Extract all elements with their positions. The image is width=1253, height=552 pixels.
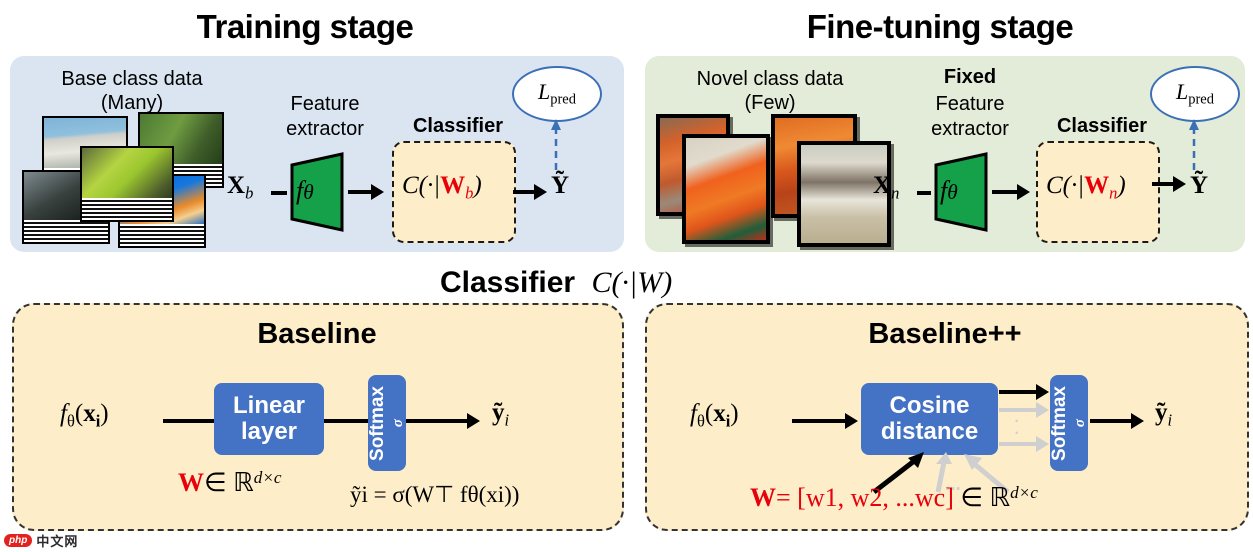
finetuning-input-line [917, 191, 931, 195]
finetuning-output-symbol: Ỹ [1190, 172, 1208, 200]
base-class-data-label-line1: Base class data [22, 68, 242, 91]
training-extractor-arrow [348, 190, 372, 194]
baseline-output-expression: ỹi [492, 399, 509, 430]
finetuning-input-symbol: Xn [873, 172, 899, 203]
baselinepp-input-arrow [792, 419, 846, 423]
finetuning-classifier-label: Classifier [1037, 115, 1167, 138]
finetuning-output-arrowhead [1173, 176, 1186, 192]
training-input-symbol: Xb [227, 172, 253, 203]
finetuning-stage-title: Fine-tuning stage [645, 8, 1235, 46]
stack-sheets [80, 198, 174, 222]
baselinepp-title: Baseline++ [740, 318, 1150, 351]
baselinepp-arrow-1 [999, 390, 1037, 394]
finetuning-extractor-label-line1: Feature [895, 93, 1045, 116]
finetuning-extractor-arrow [992, 190, 1018, 194]
training-stage-title: Training stage [10, 8, 600, 46]
baseline-output-arrow [406, 419, 468, 423]
training-output-symbol: Ỹ [551, 172, 569, 200]
baseline-softmax-label: Softmax [367, 386, 389, 461]
novel-class-data-label-line1: Novel class data [655, 68, 885, 91]
baselinepp-output-arrow [1090, 419, 1132, 423]
classifier-section-heading: Classifier C(·|W) [440, 266, 820, 300]
fixed-label: Fixed [895, 66, 1045, 89]
classifier-heading-bold: Classifier [440, 266, 575, 299]
baselinepp-arrow-3 [999, 442, 1037, 446]
training-output-arrowhead [534, 184, 547, 200]
finetuning-loss-ellipse: Lpred [1150, 66, 1240, 122]
baseline-output-arrowhead [467, 413, 480, 429]
baseline-midline [324, 419, 369, 423]
baseline-weight-declaration: W∈ ℝd×c [178, 468, 282, 498]
training-classifier-expression: C(·|Wb) [402, 172, 482, 203]
baseline-block-line2: layer [233, 419, 305, 445]
baselinepp-softmax-symbol: σ [1072, 419, 1089, 427]
stack-sheets [22, 220, 110, 244]
training-input-line [271, 191, 287, 195]
training-classifier-label: Classifier [393, 115, 523, 138]
watermark-text: 中文网 [36, 531, 78, 550]
baselinepp-softmax-label: Softmax [1049, 386, 1071, 461]
training-output-arrow [513, 190, 535, 194]
classifier-heading-math: C(·|W) [592, 266, 673, 299]
finetuning-extractor-arrowhead [1017, 184, 1030, 200]
training-extractor-arrowhead [371, 184, 384, 200]
finetuning-loss-dashed-arrow [1184, 118, 1204, 170]
baselinepp-vertical-ellipsis: ··· [1013, 414, 1019, 436]
baselinepp-input-arrowhead [845, 413, 858, 429]
baseline-linear-layer-block: Linear layer [214, 383, 324, 455]
baselinepp-arrowhead-1 [1036, 384, 1049, 400]
baseline-input-expression: fθ(xi) [60, 400, 109, 431]
photo-king-crab [682, 134, 770, 244]
watermark: php 中文网 [4, 531, 78, 550]
baselinepp-output-arrowhead [1131, 413, 1144, 429]
baselinepp-block-line2: distance [881, 419, 978, 445]
baseline-title: Baseline [112, 318, 522, 351]
stack-sheets [118, 224, 206, 248]
novel-class-data-label-line2: (Few) [655, 92, 885, 115]
watermark-php-badge: php [4, 534, 32, 547]
baselinepp-softmax-block: Softmax σ [1050, 375, 1088, 471]
base-class-image-stacks [22, 112, 232, 247]
baseline-softmax-block: Softmax σ [368, 375, 406, 471]
baselinepp-block-line1: Cosine [881, 393, 978, 419]
training-loss-dashed-arrow [546, 118, 566, 170]
training-extractor-symbol: fθ [296, 176, 314, 206]
baselinepp-output-expression: ỹi [1155, 399, 1172, 430]
baseline-formula: ỹi = σ(W⊤ fθ(xi)) [350, 482, 519, 508]
finetuning-extractor-label-line2: extractor [895, 118, 1045, 141]
novel-class-image-group [656, 114, 881, 246]
baseline-softmax-symbol: σ [390, 419, 407, 427]
baselinepp-weight-declaration: W= [w1, w2, ...wc] ∈ ℝd×c [750, 483, 1038, 513]
finetuning-extractor-symbol: fθ [940, 176, 958, 206]
training-extractor-label-line2: extractor [250, 118, 400, 141]
training-extractor-label-line1: Feature [250, 93, 400, 116]
baselinepp-input-expression: fθ(xi) [690, 400, 739, 431]
baseline-input-line [163, 419, 215, 423]
baselinepp-arrowhead-2 [1036, 402, 1049, 418]
training-loss-ellipse: Lpred [512, 66, 602, 122]
baseline-block-line1: Linear [233, 393, 305, 419]
photo-snake [80, 146, 174, 202]
finetuning-classifier-expression: C(·|Wn) [1046, 172, 1126, 203]
baselinepp-cosine-distance-block: Cosine distance [861, 383, 998, 455]
finetuning-output-arrow [1152, 182, 1174, 186]
